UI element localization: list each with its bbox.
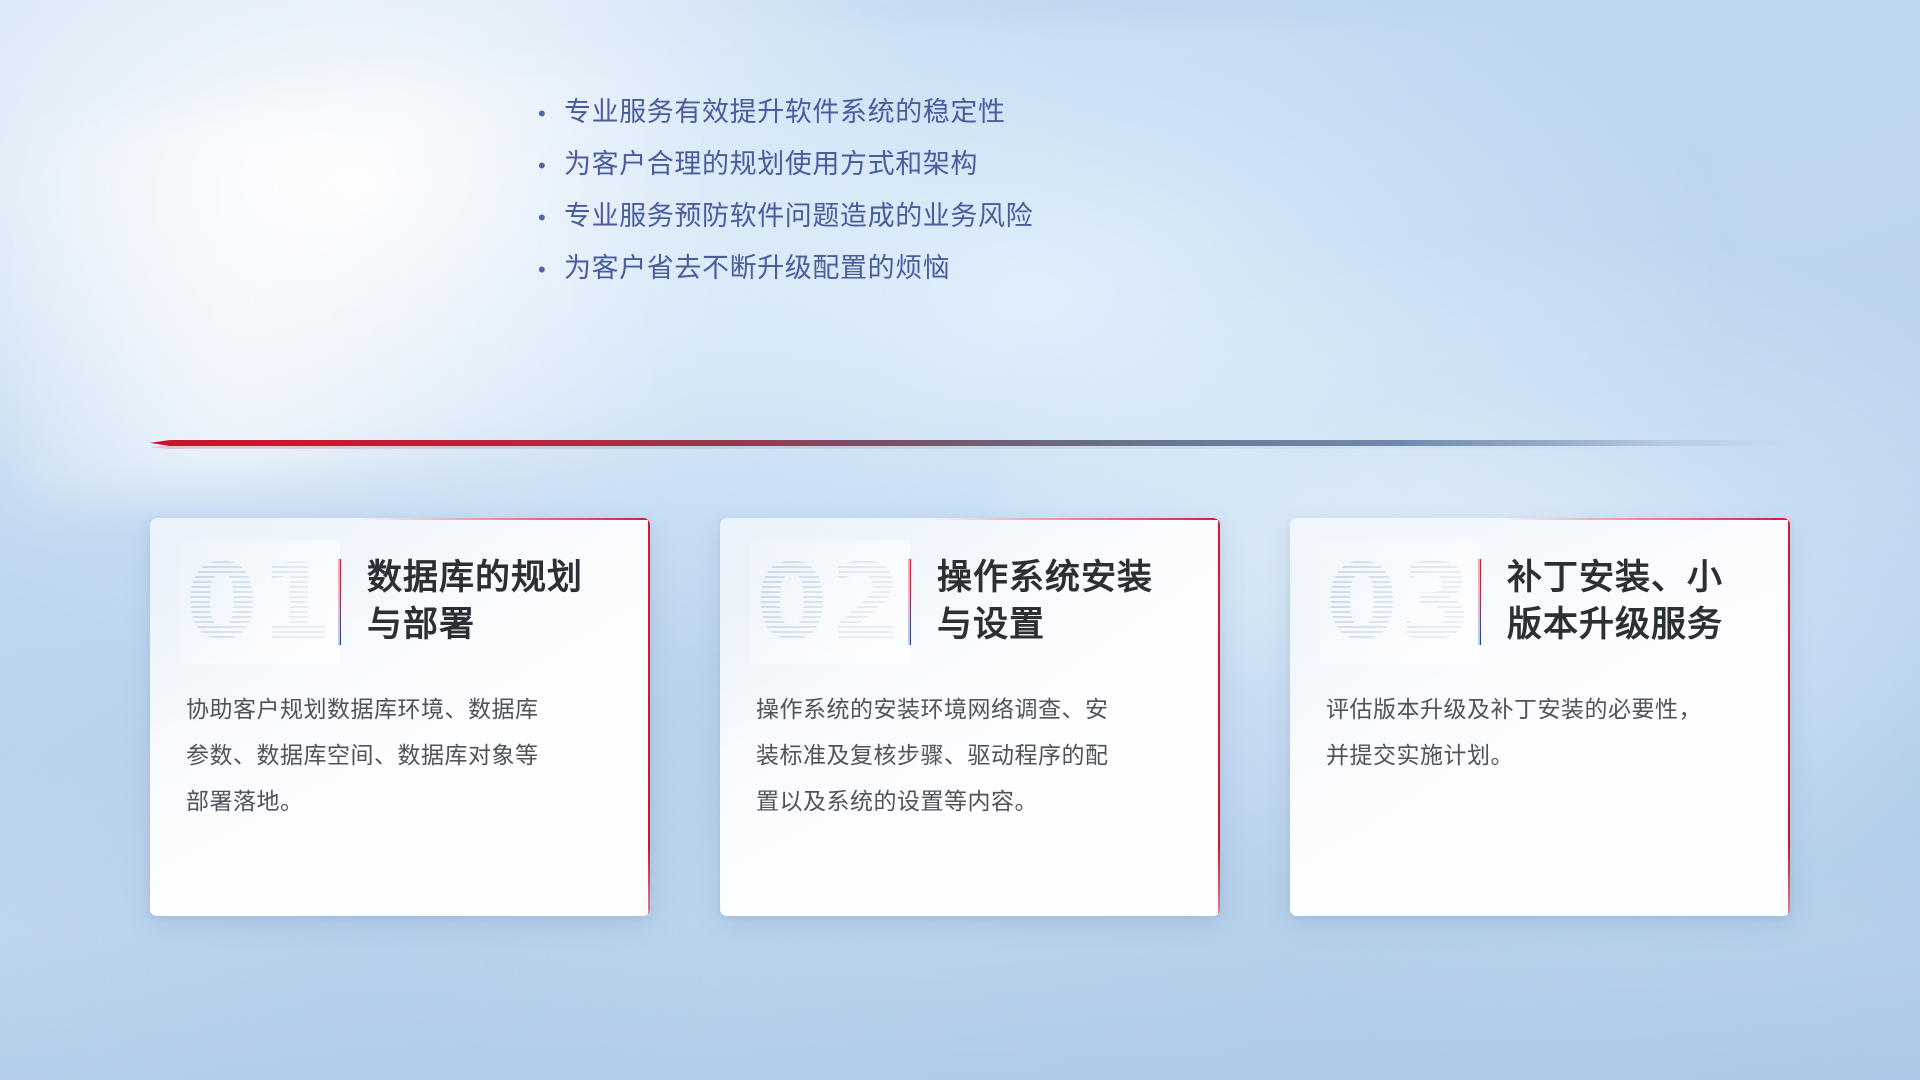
card-number-watermark: 01 [186, 546, 334, 658]
list-item: • 为客户省去不断升级配置的烦恼 [538, 242, 1438, 294]
benefits-bullet-list: • 专业服务有效提升软件系统的稳定性 • 为客户合理的规划使用方式和架构 • 专… [538, 86, 1438, 294]
card-number-text: 02 [756, 546, 904, 658]
card-title: 操作系统安装 与设置 [937, 555, 1153, 648]
service-card-03[interactable]: 03 补丁安装、小 版本升级服务 评估版本升级及补丁安装的必要性， 并提交实施计… [1290, 518, 1790, 916]
list-item: • 专业服务有效提升软件系统的稳定性 [538, 86, 1438, 138]
bullet-text: 专业服务预防软件问题造成的业务风险 [564, 190, 1033, 242]
bullet-dot-icon: • [538, 192, 564, 244]
bullet-text: 为客户省去不断升级配置的烦恼 [564, 242, 950, 294]
service-card-01[interactable]: 01 数据库的规划 与部署 协助客户规划数据库环境、数据库 参数、数据库空间、数… [150, 518, 650, 916]
card-number-watermark: 03 [1326, 546, 1474, 658]
slide-canvas: • 专业服务有效提升软件系统的稳定性 • 为客户合理的规划使用方式和架构 • 专… [0, 0, 1920, 1080]
card-header: 01 数据库的规划 与部署 [150, 518, 650, 686]
card-description: 评估版本升级及补丁安装的必要性， 并提交实施计划。 [1326, 686, 1756, 778]
title-divider-rule [908, 559, 911, 645]
bullet-text: 专业服务有效提升软件系统的稳定性 [564, 86, 1006, 138]
title-divider-rule [1478, 559, 1481, 645]
list-item: • 为客户合理的规划使用方式和架构 [538, 138, 1438, 190]
section-divider [150, 432, 1790, 454]
card-header: 02 操作系统安装 与设置 [720, 518, 1220, 686]
card-title: 数据库的规划 与部署 [367, 555, 583, 648]
bullet-dot-icon: • [538, 88, 564, 140]
card-number-watermark: 02 [756, 546, 904, 658]
card-header: 03 补丁安装、小 版本升级服务 [1290, 518, 1790, 686]
title-divider-rule [338, 559, 341, 645]
list-item: • 专业服务预防软件问题造成的业务风险 [538, 190, 1438, 242]
bullet-dot-icon: • [538, 140, 564, 192]
service-card-group: 01 数据库的规划 与部署 协助客户规划数据库环境、数据库 参数、数据库空间、数… [150, 518, 1790, 918]
card-number-text: 03 [1326, 546, 1474, 658]
card-description: 协助客户规划数据库环境、数据库 参数、数据库空间、数据库对象等 部署落地。 [186, 686, 616, 824]
bullet-dot-icon: • [538, 244, 564, 296]
card-number-text: 01 [186, 546, 334, 658]
card-description: 操作系统的安装环境网络调查、安 装标准及复核步骤、驱动程序的配 置以及系统的设置… [756, 686, 1186, 824]
bullet-text: 为客户合理的规划使用方式和架构 [564, 138, 978, 190]
divider-line [150, 440, 1790, 446]
card-title: 补丁安装、小 版本升级服务 [1507, 555, 1723, 648]
service-card-02[interactable]: 02 操作系统安装 与设置 操作系统的安装环境网络调查、安 装标准及复核步骤、驱… [720, 518, 1220, 916]
